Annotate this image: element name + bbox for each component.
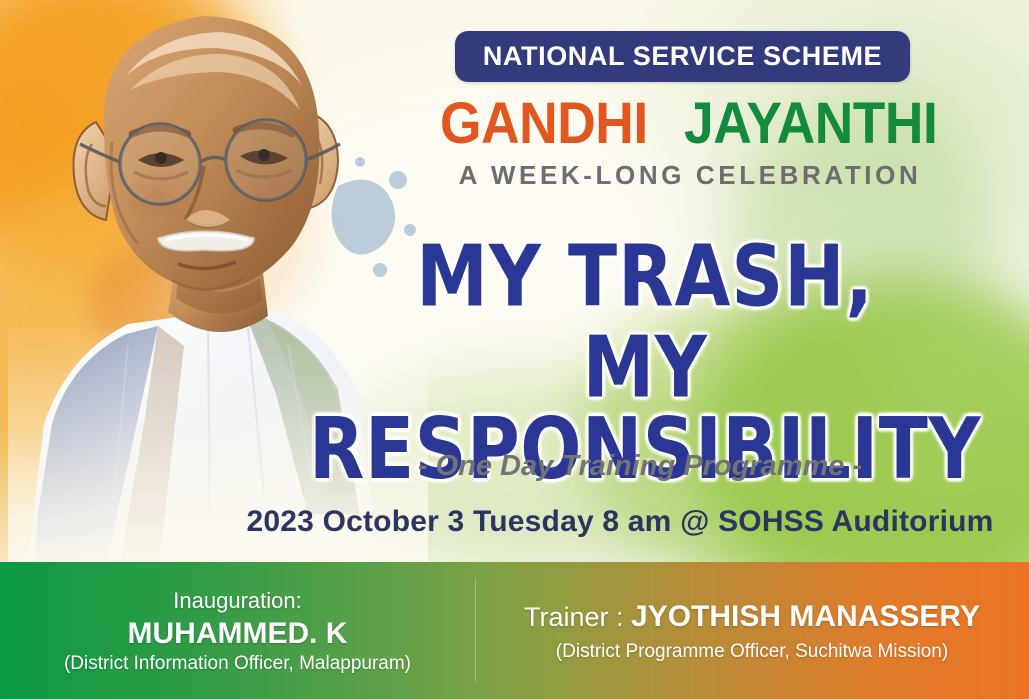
inauguration-name: MUHAMMED. K <box>128 615 348 653</box>
poster-canvas: NATIONAL SERVICE SCHEME GANDHI JAYANTHI … <box>0 0 1029 699</box>
inauguration-designation: (District Information Officer, Malappura… <box>64 652 411 677</box>
programme-type: - One Day Training Programme - <box>280 450 1000 483</box>
footer-band: Inauguration: MUHAMMED. K (District Info… <box>0 562 1029 699</box>
trainer-line: Trainer : JYOTHISH MANASSERY <box>524 598 980 636</box>
nss-header-badge: NATIONAL SERVICE SCHEME <box>455 31 910 82</box>
campaign-slogan-line-1: MY TRASH, <box>300 236 990 318</box>
event-datetime-venue: 2023 October 3 Tuesday 8 am @ SOHSS Audi… <box>240 505 1000 539</box>
event-title-word-gandhi: GANDHI <box>440 90 648 157</box>
event-subtitle: A WEEK-LONG CELEBRATION <box>440 160 940 191</box>
campaign-slogan: MY TRASH, MY RESPONSIBILITY <box>300 236 990 465</box>
nss-header-badge-label: NATIONAL SERVICE SCHEME <box>483 41 882 72</box>
trainer-label: Trainer : <box>524 602 631 632</box>
footer-trainer-block: Trainer : JYOTHISH MANASSERY (District P… <box>475 562 1029 699</box>
footer-inauguration-block: Inauguration: MUHAMMED. K (District Info… <box>0 562 475 699</box>
trainer-designation: (District Programme Officer, Suchitwa Mi… <box>556 640 948 665</box>
inauguration-label: Inauguration: <box>173 588 301 614</box>
event-title: GANDHI JAYANTHI <box>440 92 940 154</box>
trainer-name: JYOTHISH MANASSERY <box>631 600 980 633</box>
event-title-word-jayanthi: JAYANTHI <box>684 90 937 157</box>
